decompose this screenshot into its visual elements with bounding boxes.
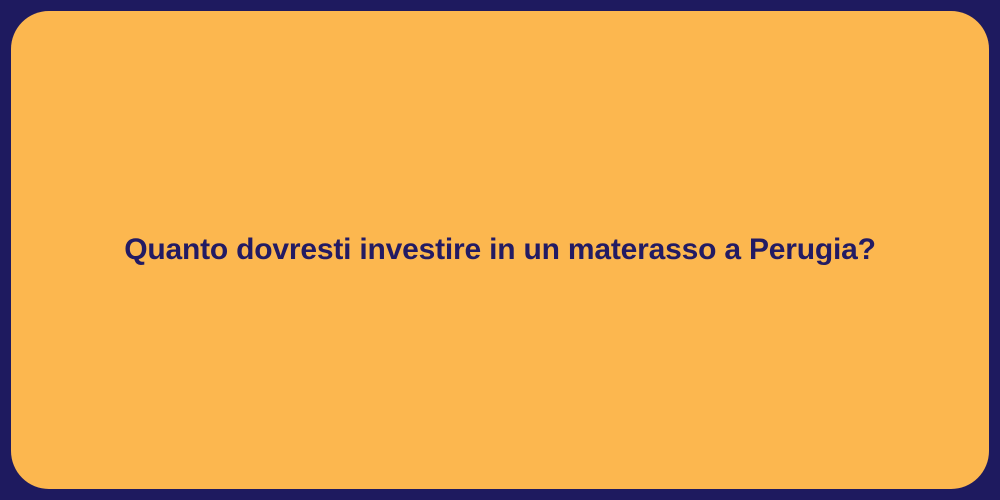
content-card: Quanto dovresti investire in un materass… [11,11,989,489]
page-title: Quanto dovresti investire in un materass… [11,231,989,269]
page-background: Quanto dovresti investire in un materass… [0,0,1000,500]
